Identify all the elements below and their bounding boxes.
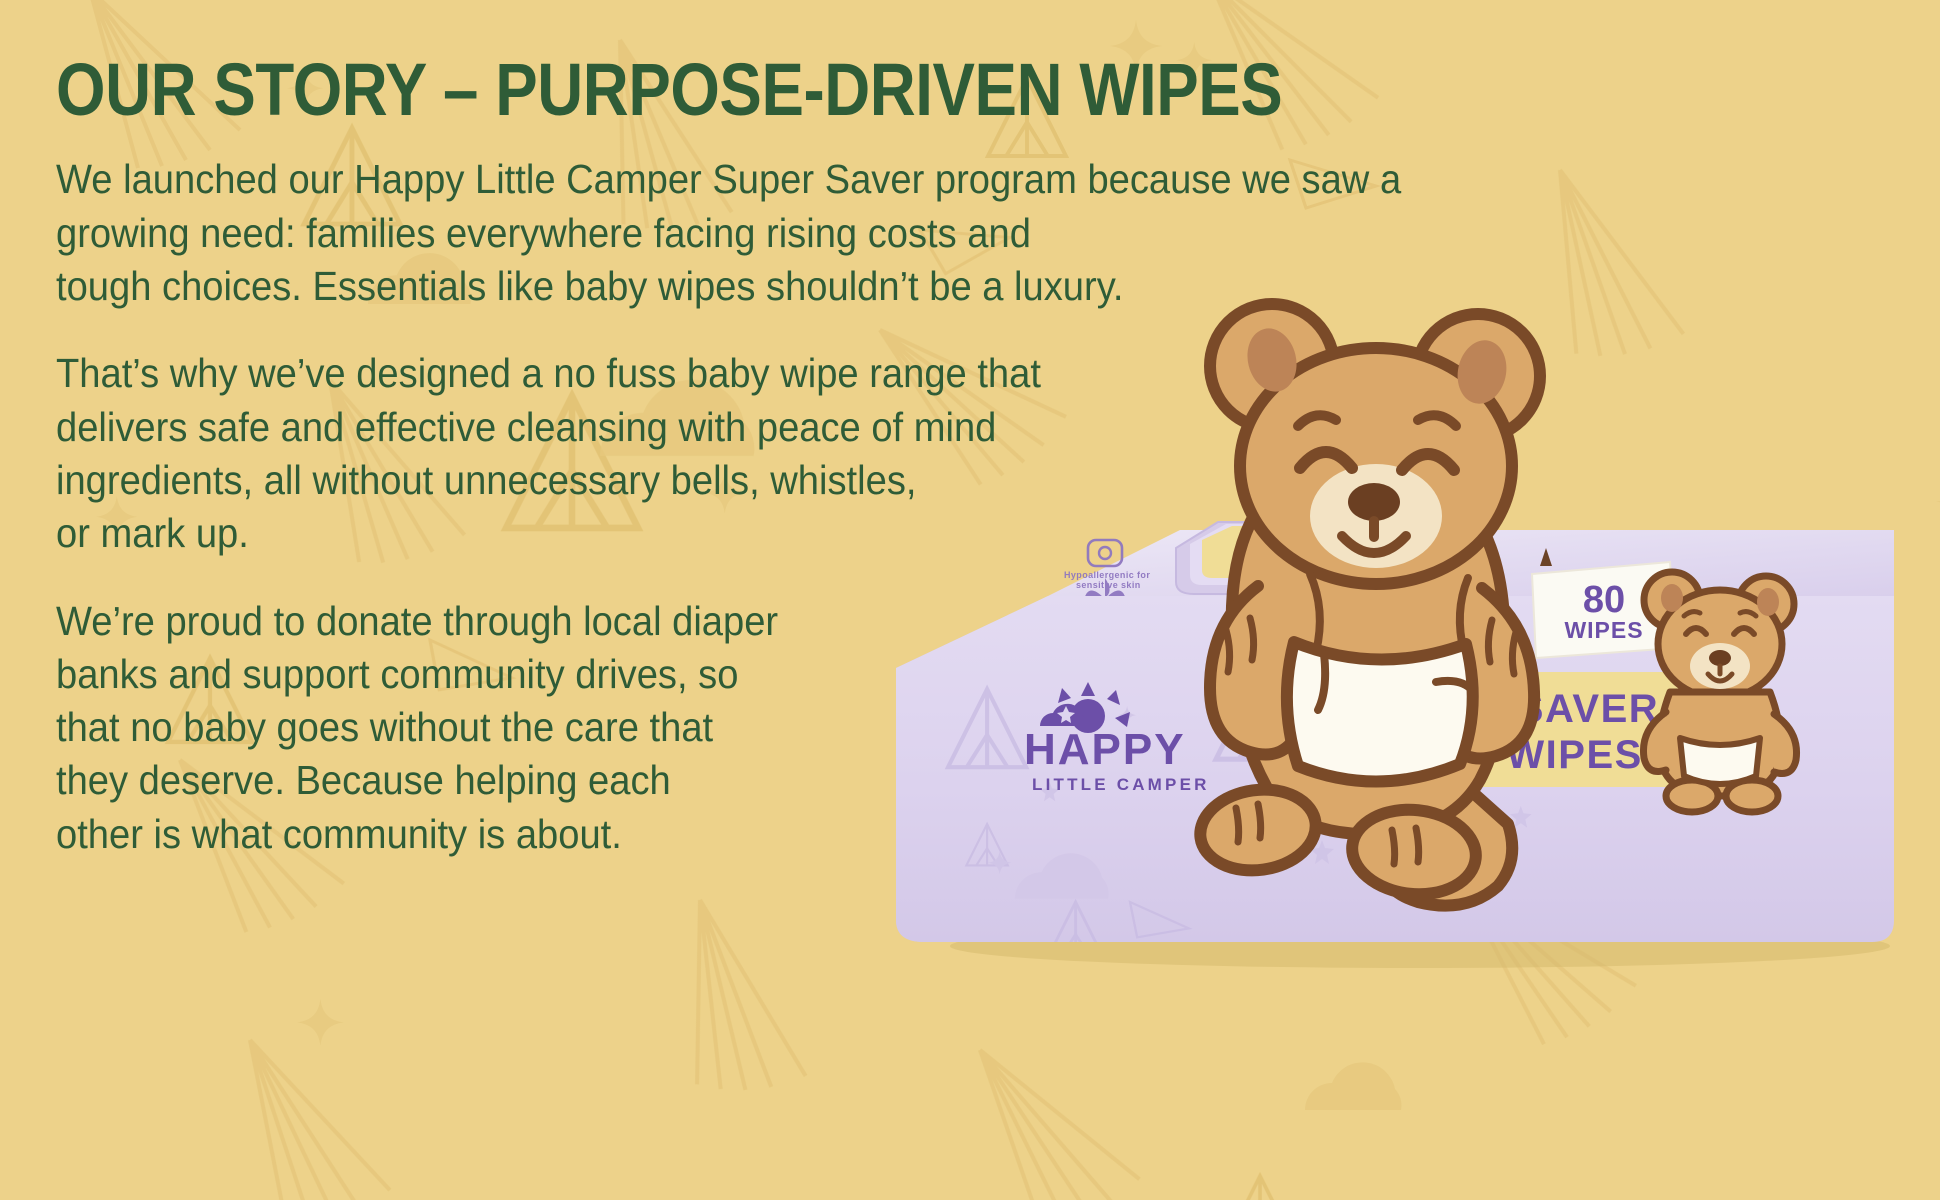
wipes-count-label: WIPES bbox=[1564, 617, 1643, 643]
paragraph-2: That’s why we’ve designed a no fuss baby… bbox=[56, 347, 1172, 560]
paragraph-1-line-1: We launched our Happy Little Camper Supe… bbox=[56, 153, 1172, 206]
paragraph-2-line-4: or mark up. bbox=[56, 507, 1172, 560]
paragraph-1-line-3: tough choices. Essentials like baby wipe… bbox=[56, 260, 1172, 313]
paragraph-3-line-4: they deserve. Because helping each bbox=[56, 754, 1172, 807]
page-title: OUR STORY – PURPOSE-DRIVEN WIPES bbox=[56, 52, 1088, 127]
poster-canvas: OUR STORY – PURPOSE-DRIVEN WIPES We laun… bbox=[0, 0, 1940, 1200]
paragraph-3-line-1: We’re proud to donate through local diap… bbox=[56, 595, 1172, 648]
paragraph-3: We’re proud to donate through local diap… bbox=[56, 595, 1172, 861]
paragraph-3-line-5: other is what community is about. bbox=[56, 808, 1172, 861]
paragraph-2-line-2: delivers safe and effective cleansing wi… bbox=[56, 401, 1172, 454]
paragraph-2-line-1: That’s why we’ve designed a no fuss baby… bbox=[56, 347, 1172, 400]
story-copy: OUR STORY – PURPOSE-DRIVEN WIPES We laun… bbox=[56, 52, 1256, 861]
paragraph-3-line-2: banks and support community drives, so bbox=[56, 648, 1172, 701]
wipes-count-number: 80 bbox=[1583, 579, 1625, 621]
paragraph-3-line-3: that no baby goes without the care that bbox=[56, 701, 1172, 754]
paragraph-2-line-3: ingredients, all without unnecessary bel… bbox=[56, 454, 1172, 507]
small-bear-illustration bbox=[1643, 572, 1796, 812]
paragraph-1-line-2: growing need: families everywhere facing… bbox=[56, 207, 1172, 260]
paragraph-1: We launched our Happy Little Camper Supe… bbox=[56, 153, 1172, 313]
